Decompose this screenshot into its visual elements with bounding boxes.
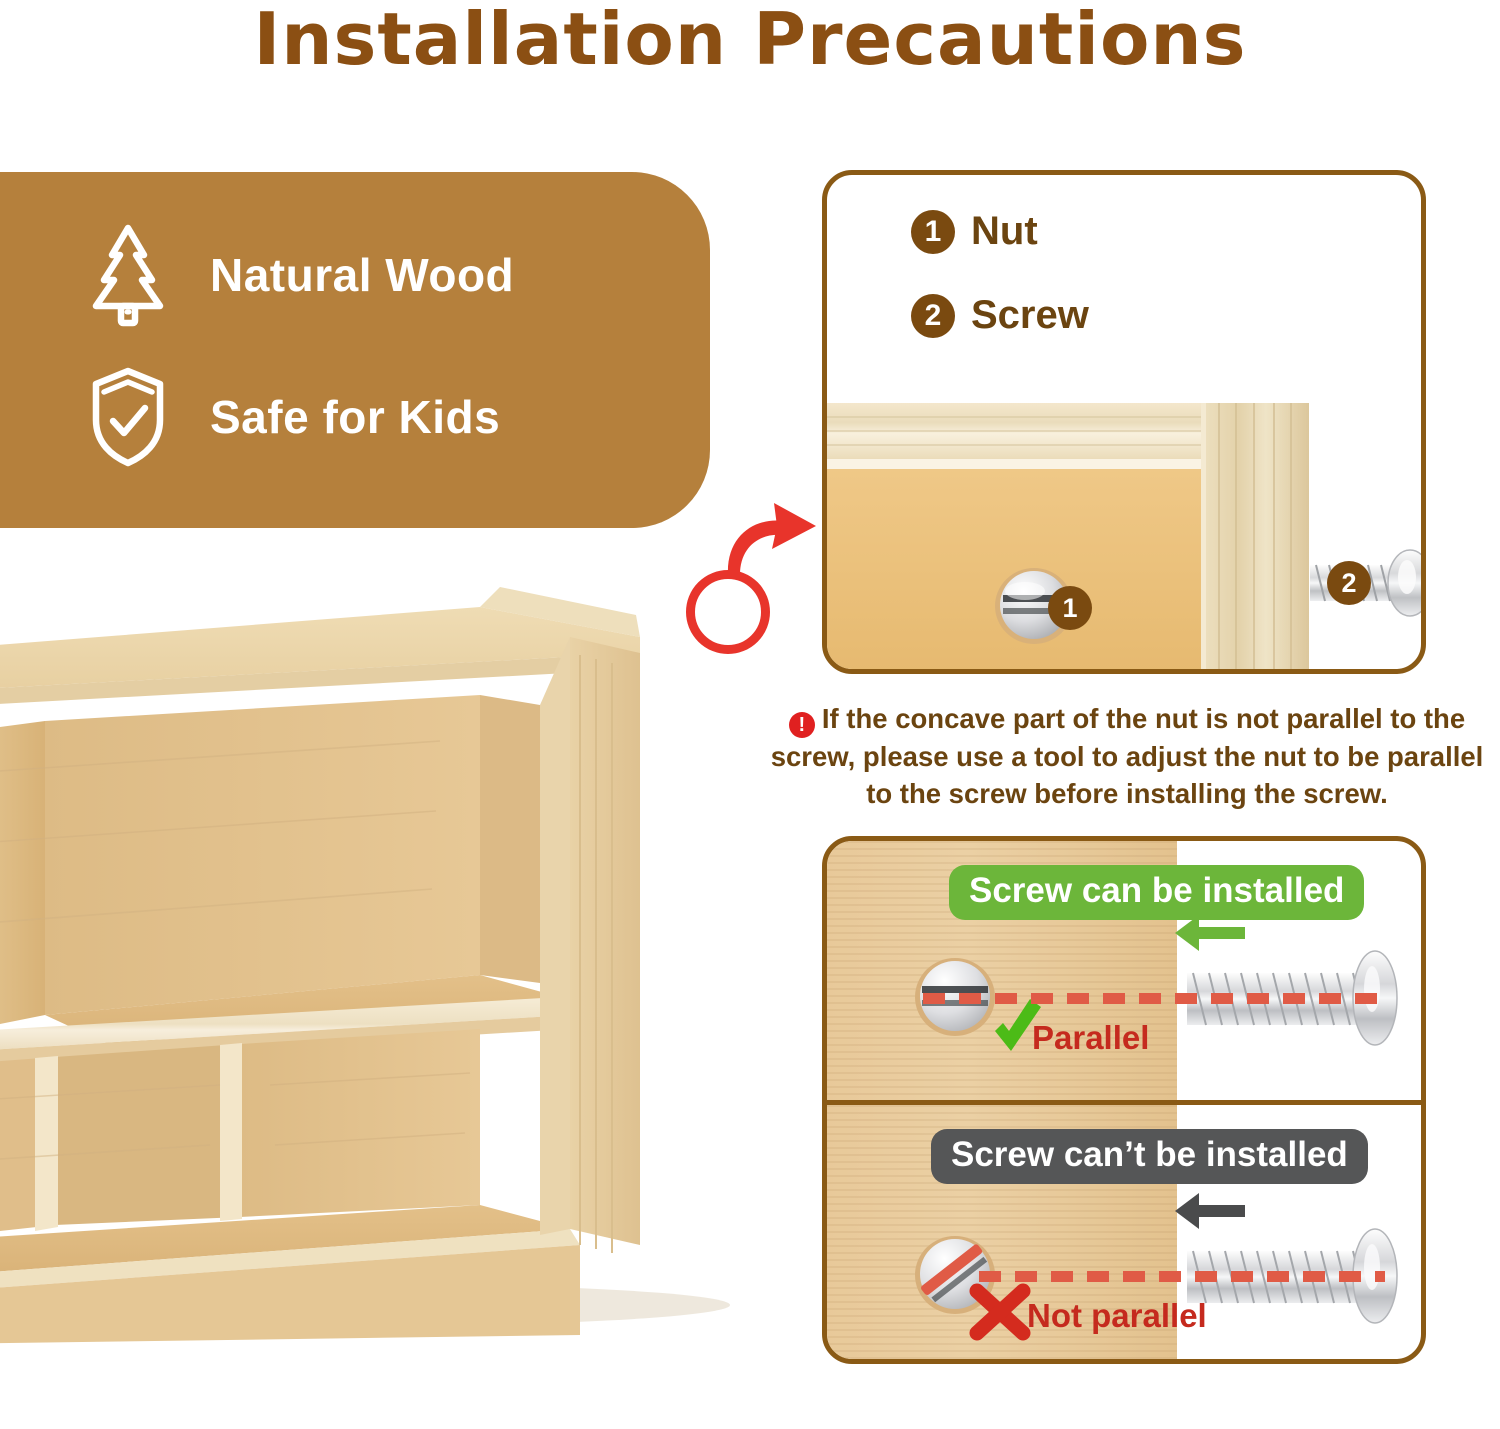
nut-and-screw-photo: 1 2: [827, 403, 1421, 674]
shield-check-icon: [80, 362, 176, 472]
left-arrow-icon: [1175, 915, 1245, 951]
parallel-label: Parallel: [1032, 1019, 1149, 1057]
svg-text:2: 2: [1341, 568, 1356, 598]
left-arrow-icon: [1175, 1193, 1245, 1229]
feature-label: Safe for Kids: [210, 390, 500, 444]
callout-badge-screw: 2: [1327, 561, 1371, 605]
red-curved-arrow-icon: [728, 503, 816, 575]
warning-text: If the concave part of the nut is not pa…: [771, 703, 1484, 809]
legend-item-screw: 2 Screw: [911, 293, 1089, 338]
badge-number: 2: [911, 294, 955, 338]
feature-highlight-panel: Natural Wood Safe for Kids: [0, 172, 710, 528]
page-title: Installation Precautions: [0, 2, 1500, 78]
pane-screw-can-be-installed: Screw can be installed Parallel: [827, 841, 1421, 1100]
feature-item-safe-for-kids: Safe for Kids: [80, 362, 500, 472]
not-parallel-label: Not parallel: [1027, 1297, 1207, 1335]
legend-label: Nut: [971, 209, 1038, 254]
status-badge-cannot-install: Screw can’t be installed: [931, 1129, 1368, 1184]
red-cross-icon: [977, 1291, 1023, 1333]
alignment-guide-line: [979, 1271, 1385, 1282]
callout-badge-nut: 1: [1048, 586, 1092, 630]
screw-alignment-comparison-card: Screw can be installed Parallel: [822, 836, 1426, 1364]
warning-note: !If the concave part of the nut is not p…: [762, 700, 1492, 812]
alignment-guide-line: [923, 993, 1385, 1004]
status-badge-can-install: Screw can be installed: [949, 865, 1364, 920]
svg-text:1: 1: [1062, 593, 1077, 623]
pane-screw-cannot-be-installed: Screw can’t be installed Not parallel: [827, 1105, 1421, 1364]
feature-item-natural-wood: Natural Wood: [80, 220, 514, 330]
legend-label: Screw: [971, 293, 1089, 338]
legend-item-nut: 1 Nut: [911, 209, 1038, 254]
pine-tree-icon: [80, 220, 176, 330]
badge-number: 1: [911, 210, 955, 254]
parts-identification-card: 1 Nut 2 Screw: [822, 170, 1426, 674]
feature-label: Natural Wood: [210, 248, 514, 302]
exclamation-circle-icon: !: [789, 712, 815, 738]
product-photo: [0, 545, 780, 1345]
